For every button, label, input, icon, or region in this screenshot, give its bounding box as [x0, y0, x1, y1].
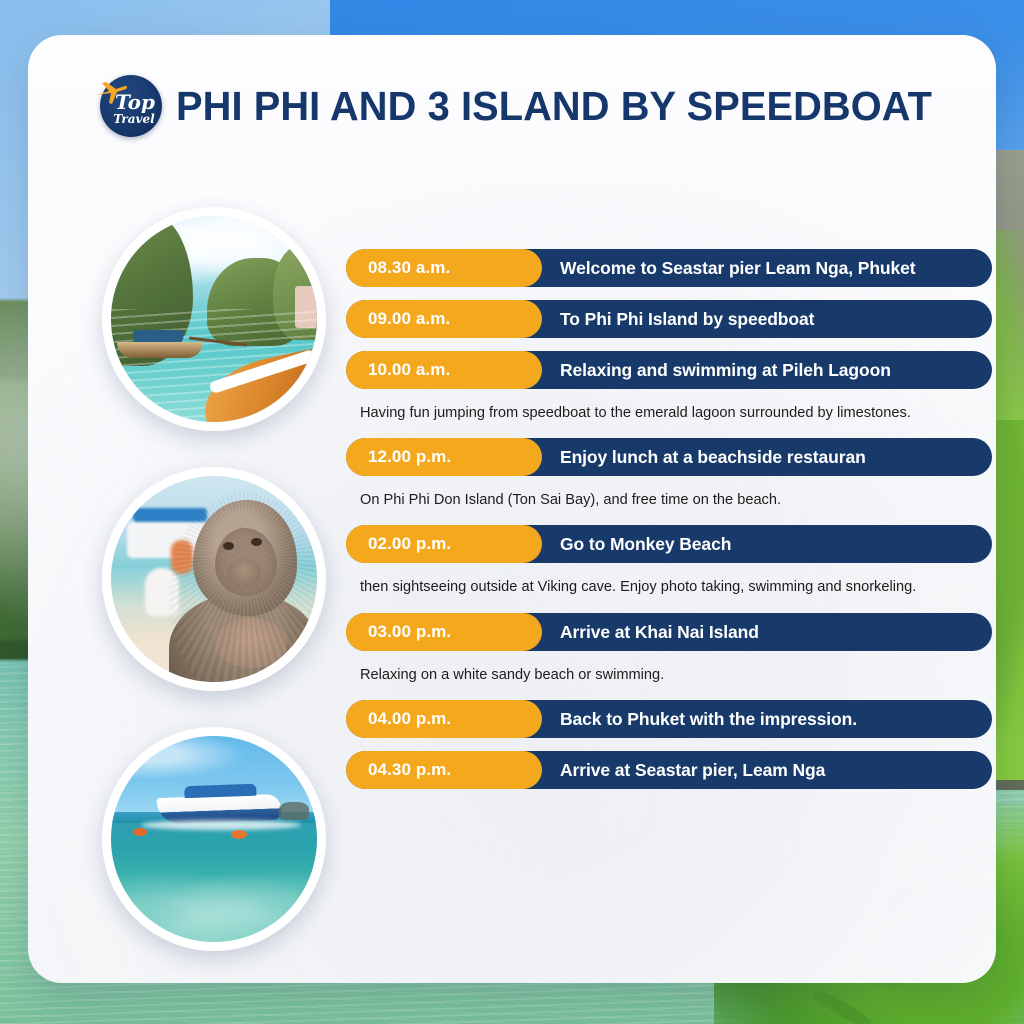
time-pill: 10.00 a.m. — [346, 351, 542, 389]
time-label: 10.00 a.m. — [368, 351, 450, 389]
time-label: 09.00 a.m. — [368, 300, 450, 338]
time-pill: 12.00 p.m. — [346, 438, 542, 476]
itinerary-row[interactable]: To Phi Phi Island by speedboat09.00 a.m. — [346, 300, 992, 338]
spacer — [346, 563, 992, 576]
itinerary-row[interactable]: Back to Phuket with the impression.04.00… — [346, 700, 992, 738]
spacer — [346, 424, 992, 438]
photo-phi-phi-lagoon — [102, 207, 326, 431]
logo-line1: Top — [115, 92, 155, 112]
itinerary-row[interactable]: Arrive at Khai Nai Island03.00 p.m. — [346, 613, 992, 651]
time-pill: 09.00 a.m. — [346, 300, 542, 338]
spacer — [346, 738, 992, 751]
time-pill: 03.00 p.m. — [346, 613, 542, 651]
itinerary-row[interactable]: Enjoy lunch at a beachside restauran12.0… — [346, 438, 992, 476]
time-label: 04.30 p.m. — [368, 751, 451, 789]
time-pill: 04.00 p.m. — [346, 700, 542, 738]
time-pill: 04.30 p.m. — [346, 751, 542, 789]
itinerary-row[interactable]: Arrive at Seastar pier, Leam Nga04.30 p.… — [346, 751, 992, 789]
time-label: 08.30 a.m. — [368, 249, 450, 287]
time-pill: 08.30 a.m. — [346, 249, 542, 287]
activity-label: Enjoy lunch at a beachside restauran — [560, 438, 978, 476]
activity-label: To Phi Phi Island by speedboat — [560, 300, 978, 338]
spacer — [346, 789, 992, 802]
logo-text: Top Travel — [100, 75, 162, 137]
top-travel-logo: Top Travel — [100, 75, 162, 137]
activity-label: Go to Monkey Beach — [560, 525, 978, 563]
activity-label: Arrive at Seastar pier, Leam Nga — [560, 751, 978, 789]
spacer — [346, 476, 992, 489]
spacer — [346, 511, 992, 525]
card-header: Top Travel PHI PHI AND 3 ISLAND BY SPEED… — [100, 75, 955, 137]
itinerary-row[interactable]: Relaxing and swimming at Pileh Lagoon10.… — [346, 351, 992, 389]
itinerary-row[interactable]: Go to Monkey Beach02.00 p.m. — [346, 525, 992, 563]
activity-label: Welcome to Seastar pier Leam Nga, Phuket — [560, 249, 978, 287]
logo-line2: Travel — [113, 113, 154, 125]
time-label: 03.00 p.m. — [368, 613, 451, 651]
activity-label: Relaxing and swimming at Pileh Lagoon — [560, 351, 978, 389]
time-label: 12.00 p.m. — [368, 438, 451, 476]
activity-label: Back to Phuket with the impression. — [560, 700, 978, 738]
page-title: PHI PHI AND 3 ISLAND BY SPEEDBOAT — [176, 83, 932, 130]
spacer — [346, 599, 992, 613]
time-label: 02.00 p.m. — [368, 525, 451, 563]
spacer — [346, 389, 992, 402]
activity-label: Arrive at Khai Nai Island — [560, 613, 978, 651]
activity-note: On Phi Phi Don Island (Ton Sai Bay), and… — [346, 489, 992, 511]
activity-note: then sightseeing outside at Viking cave.… — [346, 576, 992, 598]
spacer — [346, 287, 992, 300]
itinerary-timeline: Welcome to Seastar pier Leam Nga, Phuket… — [346, 249, 992, 802]
activity-note: Relaxing on a white sandy beach or swimm… — [346, 664, 992, 686]
itinerary-row[interactable]: Welcome to Seastar pier Leam Nga, Phuket… — [346, 249, 992, 287]
time-pill: 02.00 p.m. — [346, 525, 542, 563]
itinerary-card: Top Travel PHI PHI AND 3 ISLAND BY SPEED… — [28, 35, 996, 983]
photo-monkey-beach — [102, 467, 326, 691]
photo-speedboat — [102, 727, 326, 951]
spacer — [346, 338, 992, 351]
activity-note: Having fun jumping from speedboat to the… — [346, 402, 992, 424]
spacer — [346, 686, 992, 700]
time-label: 04.00 p.m. — [368, 700, 451, 738]
spacer — [346, 651, 992, 664]
